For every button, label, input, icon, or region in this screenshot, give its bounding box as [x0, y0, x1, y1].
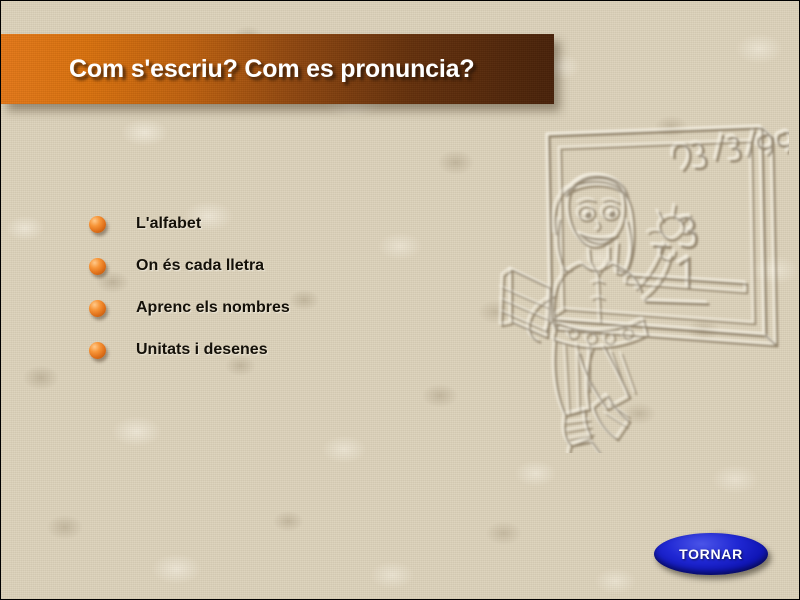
list-item-label: L'alfabet — [136, 215, 201, 233]
list-item-label: On és cada lletra — [136, 257, 264, 275]
back-button-label: TORNAR — [679, 546, 743, 562]
slide-title: Com s'escriu? Com es pronuncia? — [69, 55, 474, 84]
topic-list: L'alfabet On és cada lletra Aprenc els n… — [89, 203, 419, 371]
back-button[interactable]: TORNAR — [654, 533, 768, 575]
orange-sphere-bullet-icon — [89, 216, 106, 233]
list-item-aprenc-els-nombres[interactable]: Aprenc els nombres — [89, 287, 419, 329]
list-item-alfabet[interactable]: L'alfabet — [89, 203, 419, 245]
list-item-on-es-cada-lletra[interactable]: On és cada lletra — [89, 245, 419, 287]
orange-sphere-bullet-icon — [89, 342, 106, 359]
orange-sphere-bullet-icon — [89, 258, 106, 275]
list-item-label: Unitats i desenes — [136, 341, 268, 359]
list-item-label: Aprenc els nombres — [136, 299, 290, 317]
orange-sphere-bullet-icon — [89, 300, 106, 317]
list-item-unitats-i-desenes[interactable]: Unitats i desenes — [89, 329, 419, 371]
title-banner: Com s'escriu? Com es pronuncia? — [1, 34, 554, 104]
presentation-slide: Com s'escriu? Com es pronuncia? — [0, 0, 800, 600]
